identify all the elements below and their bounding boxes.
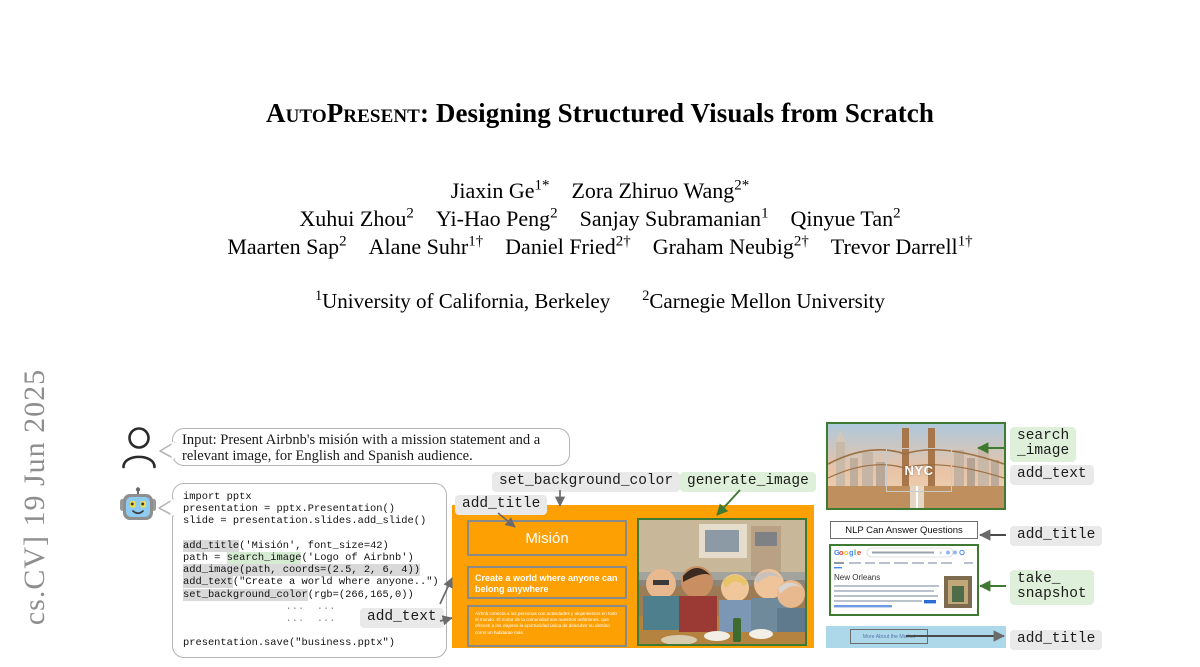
author-line-1: Jiaxin Ge1*Zora Zhiruo Wang2*: [0, 178, 1200, 204]
affiliation-line: 1University of California, Berkeley2Carn…: [0, 288, 1200, 314]
code-line-import: import pptx: [183, 491, 252, 503]
generated-code-bubble: import pptx presentation = pptx.Presenta…: [172, 483, 447, 658]
author-name: Graham Neubig2†: [653, 234, 809, 259]
code-call-add-title: add_title: [183, 540, 239, 552]
author-affiliation-marker: 1: [761, 206, 768, 222]
code-args-set-bg: (rgb=(266,165,0)): [308, 589, 414, 601]
author-affiliation-marker: 1†: [958, 234, 973, 250]
generated-slide-main[interactable]: Misión Create a world where anyone can b…: [452, 505, 814, 648]
author-name: Sanjay Subramanian1: [580, 206, 769, 231]
google-snapshot: G o o g l e × New Orleans: [829, 544, 979, 616]
code-args-add-title: ('Misión', font_size=42): [239, 540, 389, 552]
input-speech-bubble: Input: Present Airbnb's misión with a mi…: [172, 428, 570, 466]
code-line-slide: slide = presentation.slides.add_slide(): [183, 515, 426, 527]
person-icon: [118, 425, 160, 469]
author-name: Xuhui Zhou2: [299, 206, 413, 231]
page-title-system-name: AutoPresent: [266, 98, 420, 128]
page-title: AutoPresent: Designing Structured Visual…: [0, 98, 1200, 129]
author-affiliation-marker: 1†: [468, 234, 483, 250]
author-name: Daniel Fried2†: [505, 234, 631, 259]
author-name: Zora Zhiruo Wang2*: [571, 178, 749, 203]
generated-slide-market[interactable]: More About the Market: [826, 626, 1006, 648]
author-affiliation-marker: 2†: [794, 234, 809, 250]
author-affiliation-marker: 2: [550, 206, 557, 222]
code-args-add-text: ("Create a world where anyone.."): [233, 576, 439, 588]
generated-slide-nlp[interactable]: NLP Can Answer Questions G o o g l e ×: [826, 518, 1006, 621]
svg-text:New Orleans: New Orleans: [834, 573, 880, 582]
author-affiliation-marker: 2: [406, 206, 413, 222]
author-affiliation-marker: 2: [893, 206, 900, 222]
code-args-search-image: ('Logo of Airbnb'): [301, 552, 413, 564]
affiliation-marker: 2: [642, 288, 649, 304]
code-path-prefix: path =: [183, 552, 227, 564]
market-title-text: More About the Market: [863, 634, 915, 640]
author-line-2: Xuhui Zhou2Yi-Hao Peng2Sanjay Subramania…: [0, 206, 1200, 232]
label-add-title-nlp: add_title: [1010, 526, 1102, 546]
label-add-text-right: add_text: [1010, 465, 1094, 485]
generated-slide-nyc[interactable]: NYC: [826, 422, 1006, 510]
slide-heading-text: Create a world where anyone can belong a…: [475, 573, 618, 594]
robot-icon: [118, 487, 158, 525]
author-affiliation-marker: 2†: [616, 234, 631, 250]
author-name: Yi-Hao Peng2: [436, 206, 558, 231]
slide-body-text: Airbnb conecta a las personas con activi…: [475, 611, 617, 635]
market-title-box: More About the Market: [850, 629, 928, 644]
page-title-subtitle: : Designing Structured Visuals from Scra…: [420, 98, 934, 128]
code-call-search-image: search_image: [227, 552, 302, 564]
code-bubble-tail: [157, 497, 175, 517]
slide-body-box: Airbnb conecta a las personas con activi…: [467, 605, 627, 647]
author-name: Trevor Darrell1†: [831, 234, 973, 259]
author-affiliation-marker: 1*: [535, 178, 550, 194]
svg-text:e: e: [857, 548, 861, 557]
input-bubble-tail: [158, 440, 176, 460]
slide-heading-box: Create a world where anyone can belong a…: [467, 566, 627, 599]
author-affiliation-marker: 2*: [734, 178, 749, 194]
label-set-background-color: set_background_color: [492, 472, 680, 492]
author-name: Qinyue Tan2: [791, 206, 901, 231]
slide-title-box: Misión: [467, 520, 627, 556]
input-bubble-text: Input: Present Airbnb's misión with a mi…: [182, 432, 540, 464]
author-name: Maarten Sap2: [227, 234, 346, 259]
label-generate-image: generate_image: [680, 472, 816, 492]
nyc-text: NYC: [905, 463, 934, 478]
affiliation: 2Carnegie Mellon University: [642, 289, 885, 313]
svg-text:×: ×: [939, 551, 943, 557]
slide-photo-dinner: [637, 518, 807, 646]
author-line-3: Maarten Sap2Alane Suhr1†Daniel Fried2†Gr…: [0, 234, 1200, 260]
label-add-title-main: add_title: [455, 495, 547, 515]
nyc-text-box: NYC: [886, 448, 952, 492]
author-name: Alane Suhr1†: [369, 234, 484, 259]
label-add-text-code: add_text: [360, 608, 444, 628]
code-line-presentation: presentation = pptx.Presentation(): [183, 503, 395, 515]
code-line-add-image: add_image(path, coords=(2.5, 2, 6, 4)): [183, 564, 420, 576]
label-search-image: search _image: [1010, 427, 1076, 462]
slide-title-text: Misión: [525, 530, 568, 547]
nlp-title-box: NLP Can Answer Questions: [830, 521, 978, 539]
affiliation-marker: 1: [315, 288, 322, 304]
code-call-add-text: add_text: [183, 576, 233, 588]
nlp-title-text: NLP Can Answer Questions: [845, 525, 963, 536]
code-call-set-bg: set_background_color: [183, 589, 308, 601]
label-add-title-market: add_title: [1010, 630, 1102, 650]
label-take-snapshot: take_ snapshot: [1010, 570, 1094, 605]
author-name: Jiaxin Ge1*: [451, 178, 550, 203]
affiliation: 1University of California, Berkeley: [315, 289, 610, 313]
svg-text:l: l: [854, 548, 856, 557]
author-affiliation-marker: 2: [339, 234, 346, 250]
